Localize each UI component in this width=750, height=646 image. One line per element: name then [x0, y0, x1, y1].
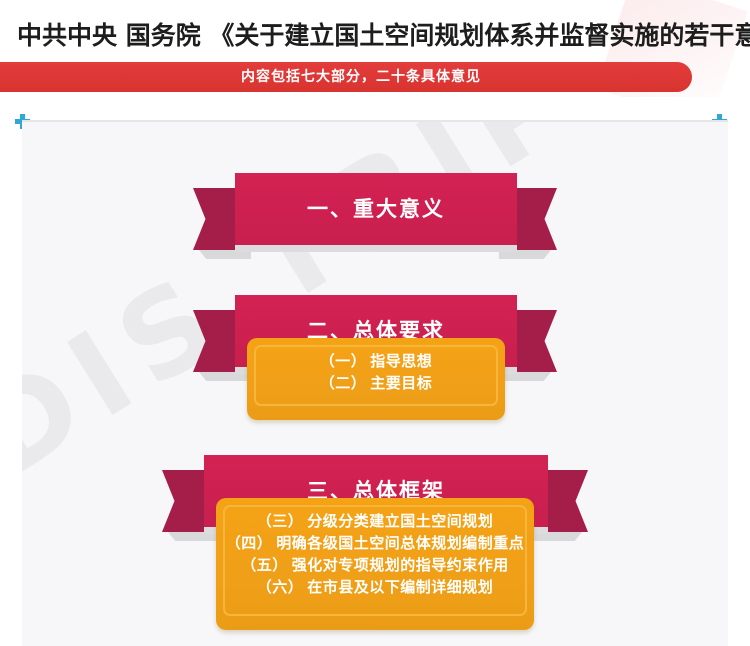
header: 中共中央 国务院 《关于建立国土空间规划体系并监督实施的若干意见》 内容包括七大…: [0, 0, 750, 97]
list-item-label: 主要目标: [370, 374, 432, 392]
list-item-number: （五）: [241, 556, 288, 574]
section-2: （一）指导思想 （二）主要目标 二、总体要求: [193, 292, 557, 412]
section-3-item-list: （三）分级分类建立国土空间规划 （四）明确各级国土空间总体规划编制重点 （五）强…: [216, 510, 534, 598]
list-item: （三）分级分类建立国土空间规划: [216, 510, 534, 532]
list-item-label: 明确各级国土空间总体规划编制重点: [276, 534, 524, 552]
list-item-number: （四）: [226, 534, 273, 552]
list-item-label: 强化对专项规划的指导约束作用: [292, 556, 509, 574]
list-item: （五）强化对专项规划的指导约束作用: [216, 554, 534, 576]
list-item-label: 指导思想: [370, 352, 432, 370]
list-item: （一）指导思想: [247, 350, 505, 372]
section-1: 一、重大意义: [193, 170, 557, 266]
section-3: （三）分级分类建立国土空间规划 （四）明确各级国土空间总体规划编制重点 （五）强…: [162, 452, 588, 632]
subtitle-text: 内容包括七大部分，二十条具体意见: [0, 62, 692, 92]
list-item: （四）明确各级国土空间总体规划编制重点: [216, 532, 534, 554]
list-item-number: （二）: [320, 374, 367, 392]
section-2-item-list: （一）指导思想 （二）主要目标: [247, 350, 505, 394]
section-1-heading: 一、重大意义: [235, 173, 517, 245]
infographic-page: 中共中央 国务院 《关于建立国土空间规划体系并监督实施的若干意见》 内容包括七大…: [0, 0, 750, 646]
content-frame: DIS TRIP 一、重大意义 （一）指导思想 （二: [22, 122, 728, 646]
list-item-number: （一）: [320, 352, 367, 370]
list-item-number: （三）: [257, 512, 304, 530]
subtitle-bar: 内容包括七大部分，二十条具体意见: [0, 62, 692, 92]
list-item: （六）在市县及以下编制详细规划: [216, 576, 534, 598]
list-item-number: （六）: [257, 578, 304, 596]
page-title: 中共中央 国务院 《关于建立国土空间规划体系并监督实施的若干意见》: [17, 19, 750, 53]
list-item-label: 分级分类建立国土空间规划: [307, 512, 493, 530]
list-item: （二）主要目标: [247, 372, 505, 394]
list-item-label: 在市县及以下编制详细规划: [307, 578, 493, 596]
